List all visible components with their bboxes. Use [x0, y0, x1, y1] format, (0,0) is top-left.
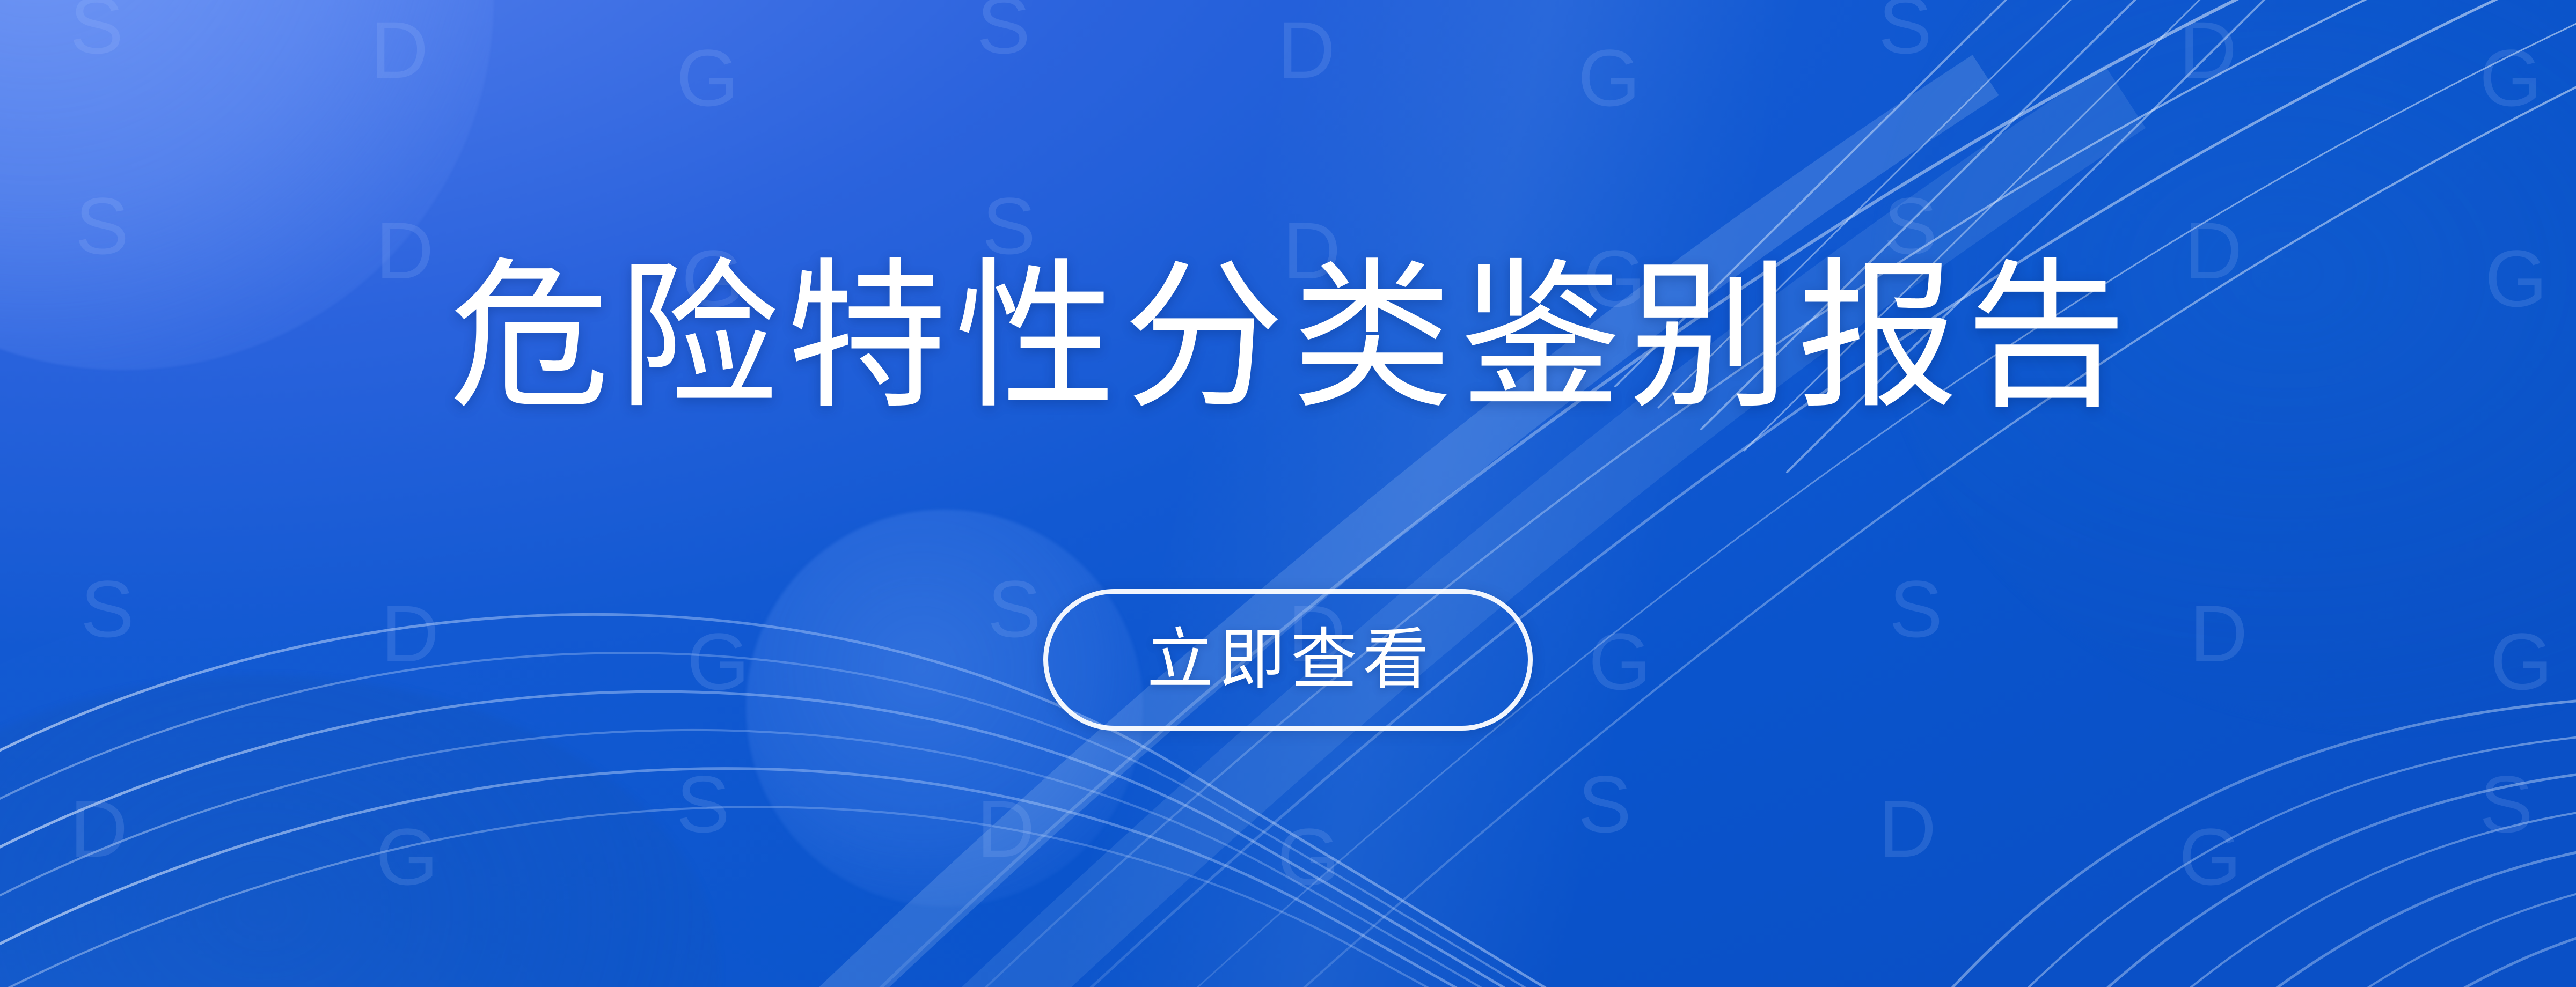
page-title: 危险特性分类鉴别报告	[442, 251, 2134, 423]
view-now-button[interactable]: 立即查看	[1043, 589, 1533, 731]
view-now-button-label: 立即查看	[1141, 627, 1435, 693]
banner-content: 危险特性分类鉴别报告 立即查看	[0, 0, 2576, 987]
promo-banner: SDGSDGSDGGSDGSDGSDGSDGSDGSDGDGSDGSDGS 危险…	[0, 0, 2576, 987]
